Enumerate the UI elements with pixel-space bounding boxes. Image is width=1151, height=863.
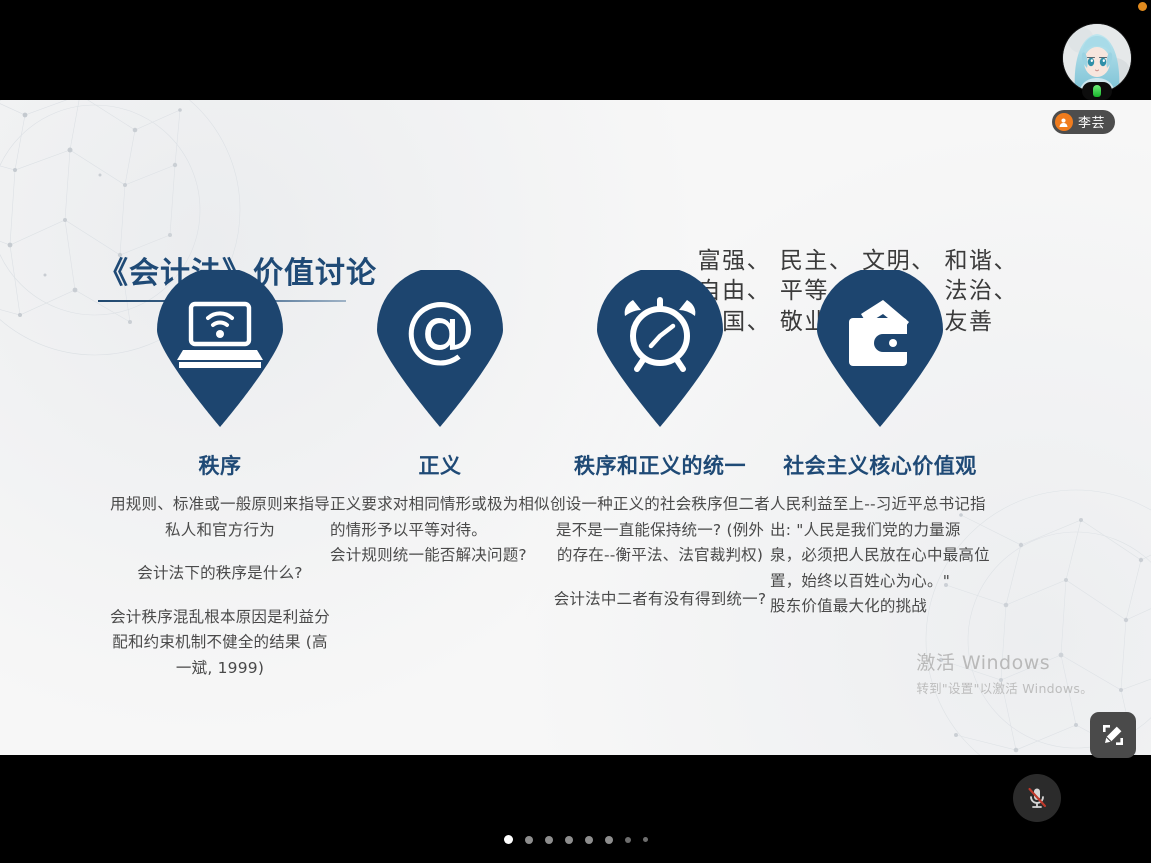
- value-paragraph: 正义要求对相同情形或极为相似的情形予以平等对待。: [330, 492, 550, 543]
- pager-dot[interactable]: [565, 836, 573, 844]
- value-paragraph: 用规则、标准或一般原则来指导私人和官方行为: [110, 492, 330, 543]
- participant-name: 李芸: [1078, 116, 1105, 129]
- pen-annotate-icon: [1100, 722, 1126, 748]
- value-column-justice: @ 正义 正义要求对相同情形或极为相似的情形予以平等对待。 会计规则统一能否解决…: [330, 270, 550, 681]
- value-paragraph: 人民利益至上--习近平总书记指出: "人民是我们党的力量源泉，必须把人民放在心中…: [770, 492, 990, 594]
- value-paragraph: 股东价值最大化的挑战: [770, 594, 990, 620]
- value-paragraph: 创设一种正义的社会秩序但二者是不是一直能保持统一? (例外的存在--衡平法、法官…: [550, 492, 770, 569]
- recording-indicator-dot: [1138, 2, 1147, 11]
- annotate-button[interactable]: [1090, 712, 1136, 758]
- value-column-body: 正义要求对相同情形或极为相似的情形予以平等对待。 会计规则统一能否解决问题?: [330, 492, 550, 569]
- value-column-body: 用规则、标准或一般原则来指导私人和官方行为 会计法下的秩序是什么? 会计秩序混乱…: [110, 492, 330, 681]
- value-columns: 秩序 用规则、标准或一般原则来指导私人和官方行为 会计法下的秩序是什么? 会计秩…: [110, 270, 1045, 681]
- pager-dot[interactable]: [525, 836, 533, 844]
- value-column-body: 创设一种正义的社会秩序但二者是不是一直能保持统一? (例外的存在--衡平法、法官…: [550, 492, 770, 612]
- participant-avatar-tile[interactable]: [1063, 24, 1131, 92]
- value-column-heading: 正义: [419, 450, 462, 480]
- mic-level-indicator: [1082, 82, 1112, 100]
- participant-name-badge: 李芸: [1052, 110, 1115, 134]
- value-column-core-values: 社会主义核心价值观 人民利益至上--习近平总书记指出: "人民是我们党的力量源泉…: [770, 270, 990, 681]
- mute-toggle-button[interactable]: [1013, 774, 1061, 822]
- screen-share-stage: 李芸: [0, 0, 1151, 863]
- slide-pager: [0, 835, 1151, 844]
- svg-text:@: @: [404, 286, 476, 370]
- pager-dot[interactable]: [643, 837, 648, 842]
- pager-dot[interactable]: [504, 835, 513, 844]
- mic-level-bar: [1093, 85, 1101, 97]
- value-paragraph: 会计秩序混乱根本原因是利益分配和约束机制不健全的结果 (高一斌, 1999): [110, 605, 330, 682]
- pager-dot[interactable]: [625, 837, 631, 843]
- value-column-unity: 秩序和正义的统一 创设一种正义的社会秩序但二者是不是一直能保持统一? (例外的存…: [550, 270, 770, 681]
- pager-dot[interactable]: [585, 836, 593, 844]
- alarm-clock-pin-icon: [593, 270, 727, 428]
- pager-dot[interactable]: [605, 836, 613, 844]
- meeting-bottom-bar: [0, 755, 1151, 863]
- value-column-heading: 社会主义核心价值观: [783, 450, 977, 480]
- value-column-order: 秩序 用规则、标准或一般原则来指导私人和官方行为 会计法下的秩序是什么? 会计秩…: [110, 270, 330, 681]
- value-paragraph: 会计法中二者有没有得到统一?: [550, 587, 770, 613]
- value-paragraph: 会计规则统一能否解决问题?: [330, 543, 550, 569]
- value-column-heading: 秩序和正义的统一: [574, 450, 746, 480]
- mic-muted-icon: [1024, 785, 1050, 811]
- wallet-pin-icon: [813, 270, 947, 428]
- at-sign-pin-icon: @: [373, 270, 507, 428]
- person-icon: [1055, 113, 1073, 131]
- laptop-wifi-pin-icon: [153, 270, 287, 428]
- pager-dot[interactable]: [545, 836, 553, 844]
- presentation-slide[interactable]: 《会计法》价值讨论 富强、 民主、 文明、 和谐、 自由、 平等、 公正、 法治…: [0, 100, 1151, 755]
- value-column-heading: 秩序: [199, 450, 242, 480]
- value-paragraph: 会计法下的秩序是什么?: [110, 561, 330, 587]
- value-column-body: 人民利益至上--习近平总书记指出: "人民是我们党的力量源泉，必须把人民放在心中…: [770, 492, 990, 620]
